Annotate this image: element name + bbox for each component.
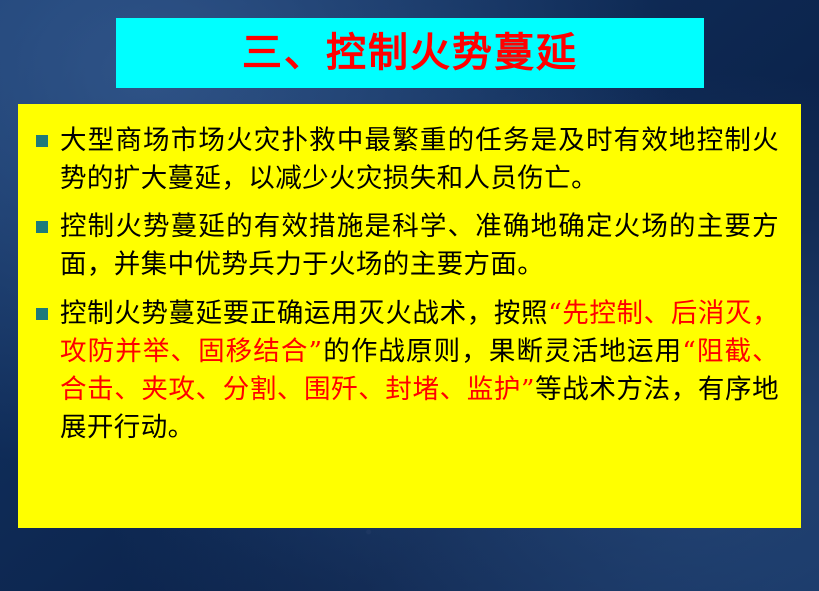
list-item: 大型商场市场火灾扑救中最繁重的任务是及时有效地控制火势的扩大蔓延，以减少火灾损失… bbox=[36, 122, 779, 198]
bullet-3-text: 控制火势蔓延要正确运用灭火战术，按照“先控制、后消灭，攻防并举、固移结合”的作战… bbox=[60, 295, 779, 448]
list-item: 控制火势蔓延要正确运用灭火战术，按照“先控制、后消灭，攻防并举、固移结合”的作战… bbox=[36, 295, 779, 448]
slide-body: 大型商场市场火灾扑救中最繁重的任务是及时有效地控制火势的扩大蔓延，以减少火灾损失… bbox=[18, 104, 801, 528]
slide: 三、控制火势蔓延 大型商场市场火灾扑救中最繁重的任务是及时有效地控制火势的扩大蔓… bbox=[0, 0, 819, 591]
bullet-1-segment-1: 大型商场市场火灾扑救中最繁重的任务是及时有效地控制火势的扩大蔓延，以减少火灾损失… bbox=[60, 125, 779, 194]
bullet-2-segment-1: 控制火势蔓延的有效措施是科学、准确地确定火场的主要方面，并集中优势兵力于火场的主… bbox=[60, 211, 779, 280]
bullet-square-icon bbox=[36, 308, 48, 320]
slide-title-box: 三、控制火势蔓延 bbox=[116, 18, 704, 88]
bullet-square-icon bbox=[36, 135, 48, 147]
list-item: 控制火势蔓延的有效措施是科学、准确地确定火场的主要方面，并集中优势兵力于火场的主… bbox=[36, 208, 779, 284]
page-title: 三、控制火势蔓延 bbox=[242, 33, 578, 73]
bullet-2-text: 控制火势蔓延的有效措施是科学、准确地确定火场的主要方面，并集中优势兵力于火场的主… bbox=[60, 208, 779, 284]
bullet-3-segment-3: 的作战原则，果断灵活地运用 bbox=[322, 336, 682, 367]
bullet-1-text: 大型商场市场火灾扑救中最繁重的任务是及时有效地控制火势的扩大蔓延，以减少火灾损失… bbox=[60, 122, 779, 198]
bullet-square-icon bbox=[36, 221, 48, 233]
bullet-3-segment-1: 控制火势蔓延要正确运用灭火战术，按照 bbox=[60, 298, 548, 329]
